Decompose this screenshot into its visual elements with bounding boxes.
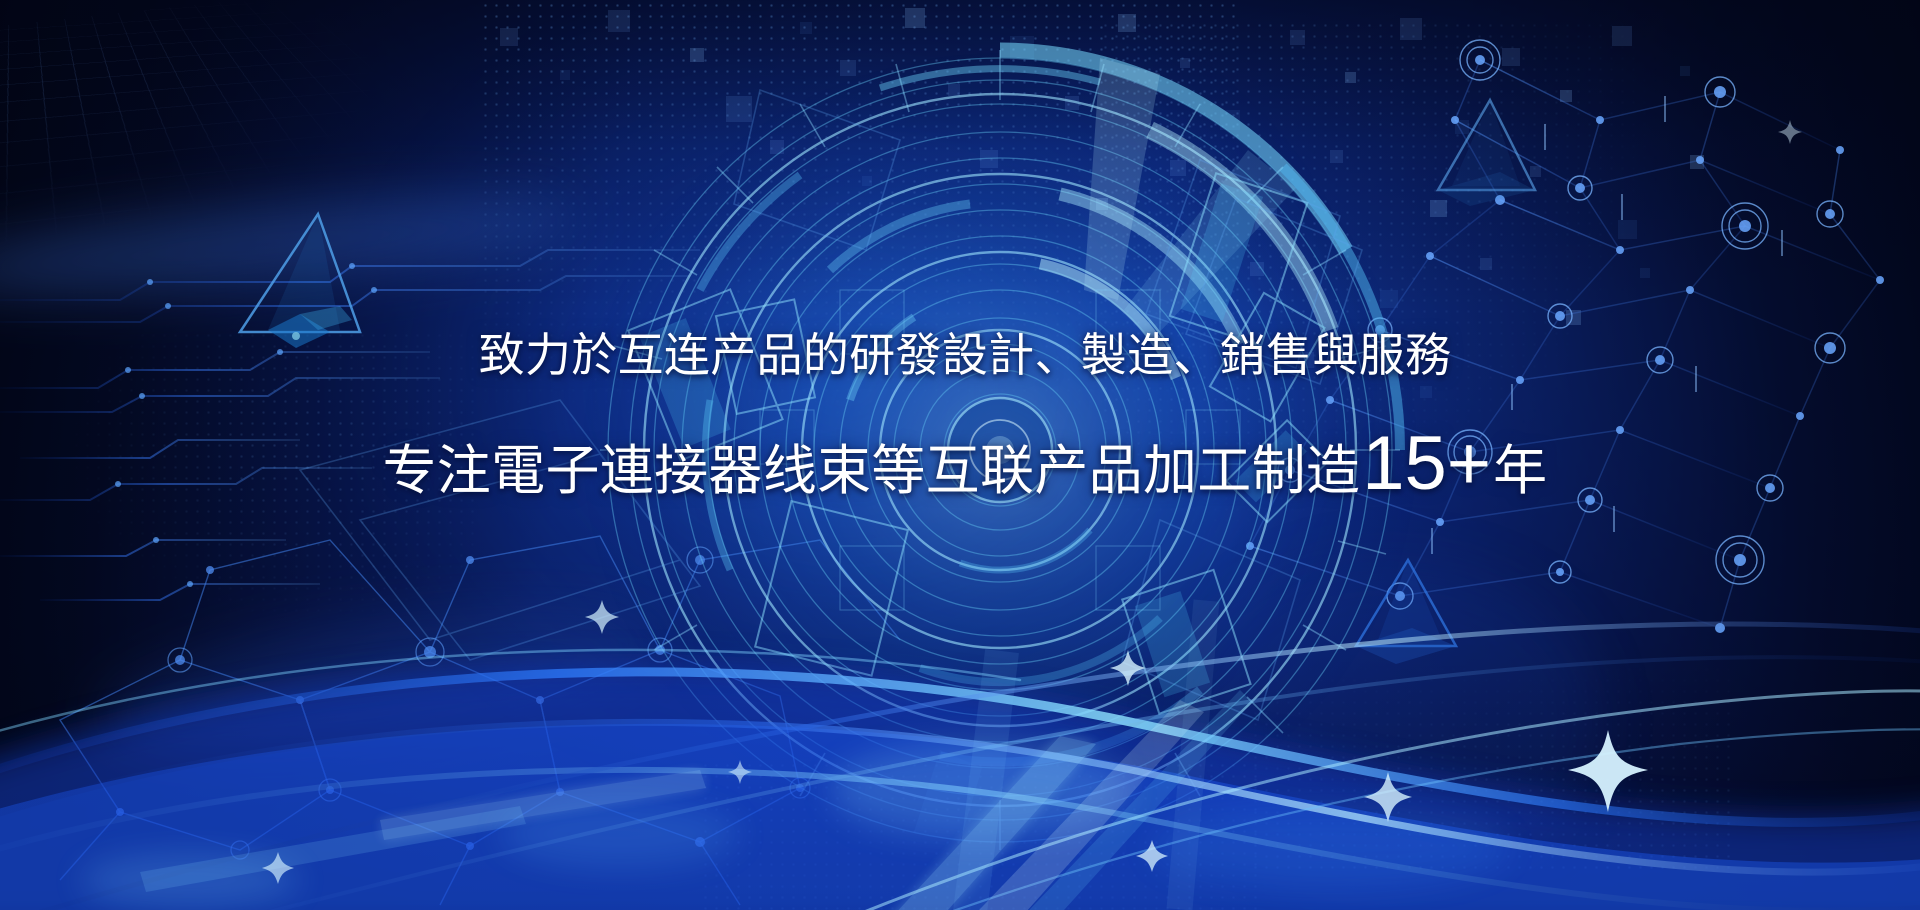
headline-line-2: 专注電子連接器线束等互联产品加工制造 15+ 年 xyxy=(0,426,1920,502)
sparkle-star-group xyxy=(262,120,1802,884)
headline-years-number: 15+ xyxy=(1362,426,1491,502)
headline-line-2-prefix: 专注電子連接器线束等互联产品加工制造 xyxy=(382,444,1360,498)
headline-block: 致力於互连产品的研發設計、製造、銷售與服務 专注電子連接器线束等互联产品加工制造… xyxy=(0,332,1920,502)
banner-stage: 致力於互连产品的研發設計、製造、銷售與服務 专注電子連接器线束等互联产品加工制造… xyxy=(0,0,1920,910)
headline-line-2-suffix: 年 xyxy=(1493,444,1547,498)
headline-line-1: 致力於互连产品的研發設計、製造、銷售與服務 xyxy=(0,332,1920,378)
